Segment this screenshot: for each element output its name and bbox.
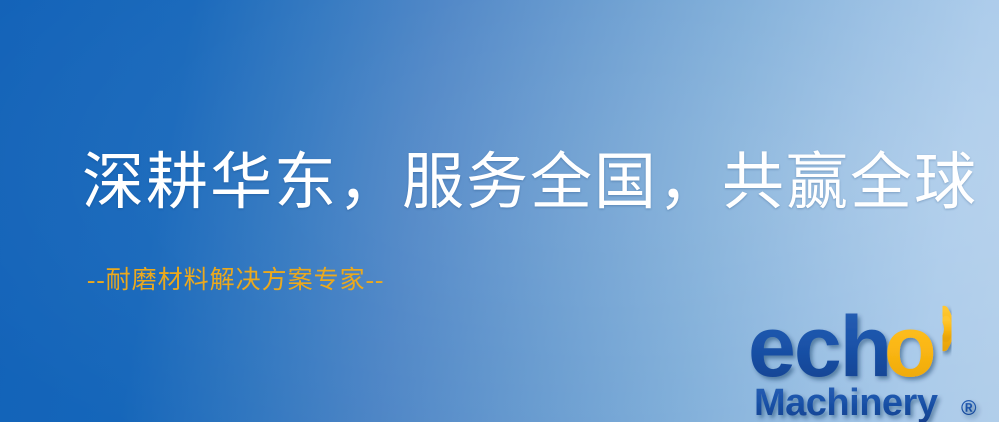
logo-text-o: o [884,299,937,395]
banner-headline: 深耕华东，服务全国，共赢全球 [82,152,978,214]
logo-text-ech: ech [748,299,890,395]
logo-trademark-symbol: ® [961,397,977,420]
logo-text-machinery: Machinery [754,382,938,422]
echo-wave-icon [944,310,949,347]
banner-subtitle: --耐磨材料解决方案专家-- [87,268,384,293]
hero-banner: 深耕华东，服务全国，共赢全球 --耐磨材料解决方案专家-- [0,0,999,422]
echo-machinery-logo[interactable]: ech o Machinery ® [748,296,999,422]
